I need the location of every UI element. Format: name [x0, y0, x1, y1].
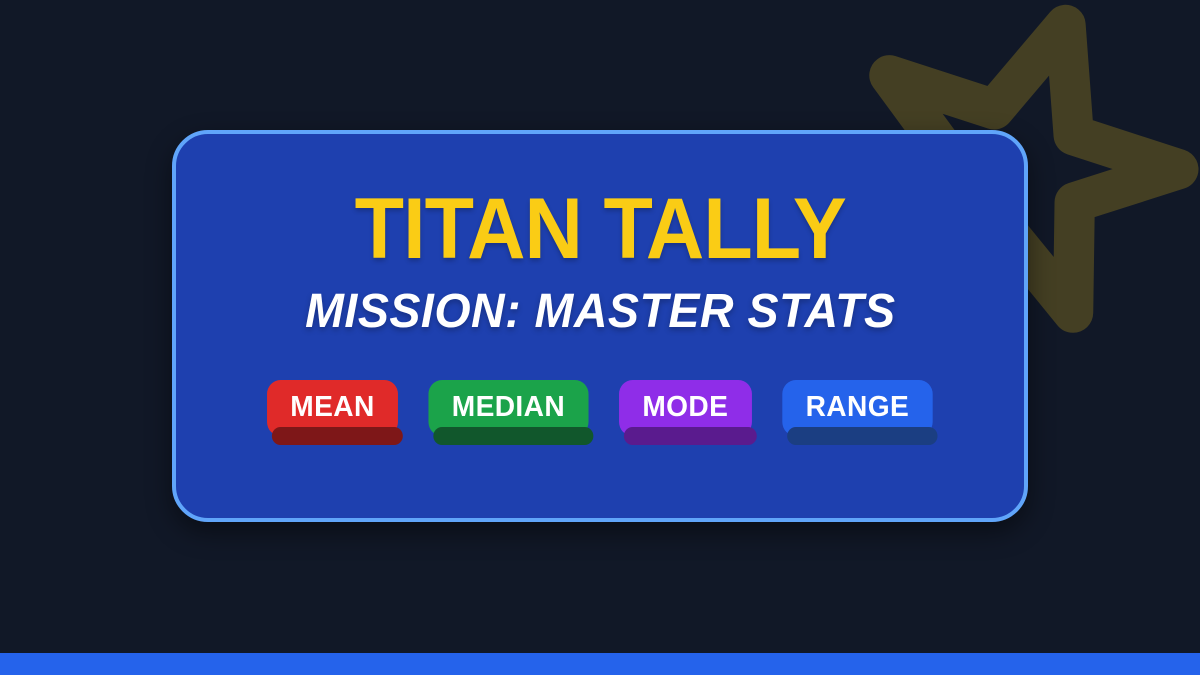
page-title: TITAN TALLY: [354, 190, 845, 269]
stat-button-median-label: MEDIAN: [452, 391, 565, 424]
title-card: TITAN TALLY MISSION: MASTER STATS MEAN M…: [172, 130, 1028, 522]
page-subtitle: MISSION: MASTER STATS: [305, 287, 895, 337]
stat-button-range[interactable]: RANGE: [782, 380, 932, 436]
stat-buttons-row: MEAN MEDIAN MODE RANGE: [265, 380, 934, 436]
stat-button-mode[interactable]: MODE: [619, 380, 752, 436]
stat-button-mean[interactable]: MEAN: [267, 380, 398, 436]
stat-button-median[interactable]: MEDIAN: [429, 380, 589, 436]
stat-button-range-label: RANGE: [805, 391, 909, 424]
bottom-accent-bar: [0, 653, 1200, 675]
stat-button-mean-label: MEAN: [291, 391, 375, 424]
stat-button-mode-label: MODE: [643, 391, 729, 424]
